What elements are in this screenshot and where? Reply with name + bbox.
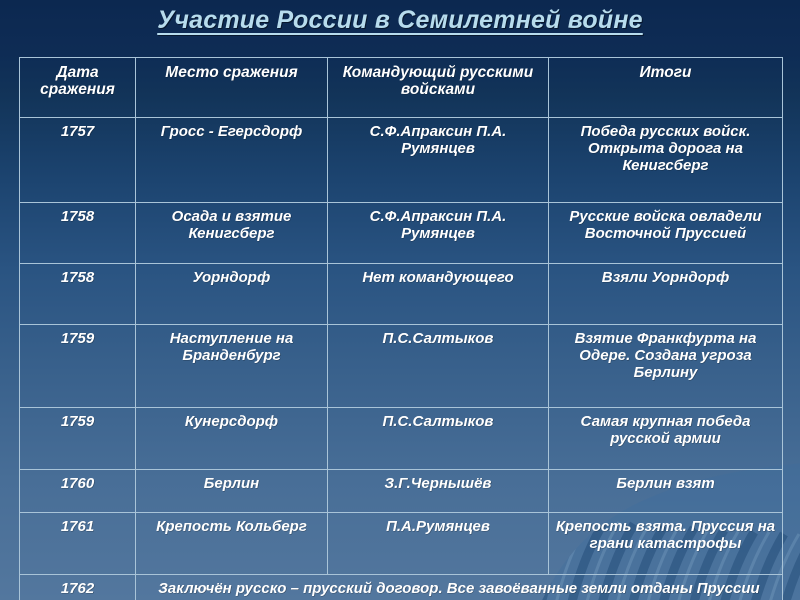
table-row: 1758 Уорндорф Нет командующего Взяли Уор… <box>20 264 783 325</box>
cell-date: 1761 <box>20 513 136 575</box>
cell-result: Крепость взята. Пруссия на грани катастр… <box>549 513 783 575</box>
table-row: 1757 Гросс - Егерсдорф С.Ф.Апраксин П.А.… <box>20 118 783 203</box>
table-row: 1759 Кунерсдорф П.С.Салтыков Самая крупн… <box>20 408 783 470</box>
table-row-treaty: 1762 Заключён русско – прусский договор.… <box>20 575 783 600</box>
cell-result: Русские войска овладели Восточной Прусси… <box>549 203 783 264</box>
cell-commander: П.С.Салтыков <box>328 325 549 408</box>
cell-commander: С.Ф.Апраксин П.А. Румянцев <box>328 118 549 203</box>
cell-date: 1759 <box>20 325 136 408</box>
cell-result: Взяли Уорндорф <box>549 264 783 325</box>
column-header-commander: Командующий русскими войсками <box>328 58 549 118</box>
cell-place: Осада и взятие Кенигсберг <box>136 203 328 264</box>
cell-place: Кунерсдорф <box>136 408 328 470</box>
cell-result: Взятие Франкфурта на Одере. Создана угро… <box>549 325 783 408</box>
cell-result: Победа русских войск. Открыта дорога на … <box>549 118 783 203</box>
cell-place: Гросс - Егерсдорф <box>136 118 328 203</box>
cell-place: Берлин <box>136 470 328 513</box>
cell-date: 1760 <box>20 470 136 513</box>
seven-years-war-table: Дата сражения Место сражения Командующий… <box>19 57 783 600</box>
cell-date: 1759 <box>20 408 136 470</box>
table-row: 1758 Осада и взятие Кенигсберг С.Ф.Апрак… <box>20 203 783 264</box>
cell-place: Уорндорф <box>136 264 328 325</box>
cell-commander: П.С.Салтыков <box>328 408 549 470</box>
cell-date: 1762 <box>20 575 136 600</box>
cell-commander: З.Г.Чернышёв <box>328 470 549 513</box>
cell-result: Берлин взят <box>549 470 783 513</box>
column-header-place: Место сражения <box>136 58 328 118</box>
column-header-date: Дата сражения <box>20 58 136 118</box>
cell-date: 1758 <box>20 203 136 264</box>
history-table-container: Дата сражения Место сражения Командующий… <box>19 57 782 600</box>
page-title: Участие России в Семилетней войне <box>0 6 800 35</box>
cell-treaty-text: Заключён русско – прусский договор. Все … <box>136 575 783 600</box>
cell-commander: П.А.Румянцев <box>328 513 549 575</box>
table-row: 1759 Наступление на Бранденбург П.С.Салт… <box>20 325 783 408</box>
cell-commander: С.Ф.Апраксин П.А. Румянцев <box>328 203 549 264</box>
table-row: 1761 Крепость Кольберг П.А.Румянцев Креп… <box>20 513 783 575</box>
slide-canvas: Участие России в Семилетней войне Дата с… <box>0 0 800 600</box>
column-header-result: Итоги <box>549 58 783 118</box>
table-row: 1760 Берлин З.Г.Чернышёв Берлин взят <box>20 470 783 513</box>
cell-date: 1758 <box>20 264 136 325</box>
cell-place: Наступление на Бранденбург <box>136 325 328 408</box>
cell-place: Крепость Кольберг <box>136 513 328 575</box>
cell-date: 1757 <box>20 118 136 203</box>
cell-commander: Нет командующего <box>328 264 549 325</box>
cell-result: Самая крупная победа русской армии <box>549 408 783 470</box>
table-header-row: Дата сражения Место сражения Командующий… <box>20 58 783 118</box>
